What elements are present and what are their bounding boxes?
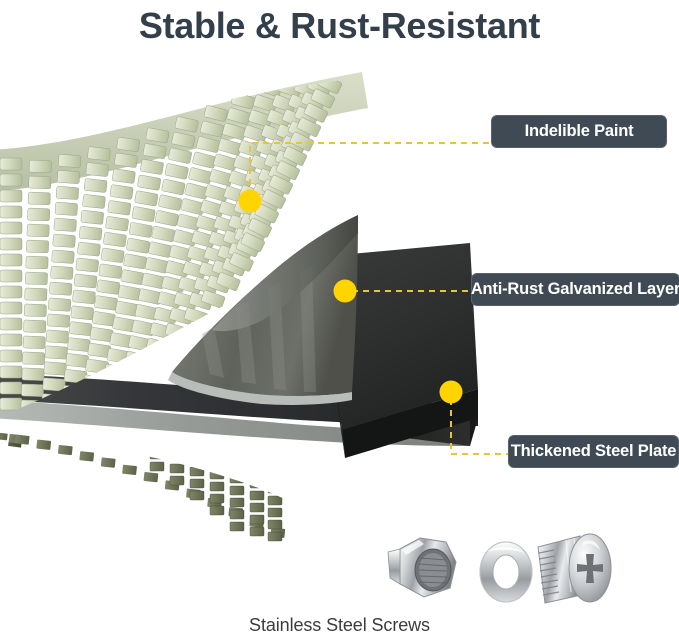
dot-anti-rust [334, 280, 357, 303]
washer-icon [480, 542, 532, 602]
bottom-grating-cells [0, 430, 292, 541]
hardware-caption: Stainless Steel Screws [0, 615, 679, 636]
dot-steel-plate [440, 381, 463, 404]
callout-label-thickened-steel-plate[interactable]: Thickened Steel Plate [508, 435, 679, 468]
callout-label-anti-rust-galvanized-layer[interactable]: Anti-Rust Galvanized Layer [471, 273, 679, 306]
infographic-canvas: Stable & Rust-Resistant [0, 0, 679, 643]
screw-icon [538, 534, 611, 603]
dot-indelible-paint [239, 190, 262, 213]
hex-nut-icon [388, 538, 456, 597]
product-layer-illustration [0, 0, 679, 643]
callout-label-indelible-paint[interactable]: Indelible Paint [491, 115, 667, 148]
